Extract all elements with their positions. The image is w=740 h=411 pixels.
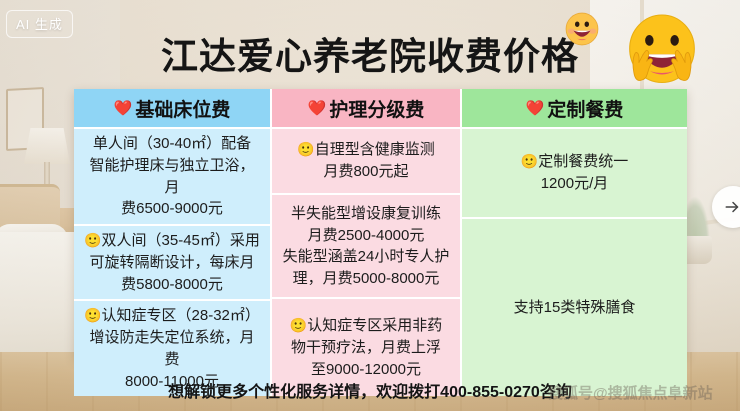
- background-lamp-shade: [24, 128, 70, 164]
- cell-line: 理，月费5000-8000元: [283, 268, 450, 290]
- table-cell: 🙂双人间（35-45㎡）采用 可旋转隔断设计，每床月 费5800-8000元: [74, 224, 270, 299]
- red-heart-icon: ❤️: [526, 99, 545, 117]
- red-heart-icon: ❤️: [308, 99, 327, 117]
- cell-line: 智能护理床与独立卫浴，月: [83, 155, 261, 199]
- cell-line: 月费800元起: [297, 161, 434, 183]
- cell-line: 1200元/月: [521, 173, 628, 195]
- cell-line: 增设防走失定位系统，月费: [83, 327, 261, 371]
- cell-line: 可旋转隔断设计，每床月: [84, 252, 260, 274]
- table-column-basic-bed-fee: ❤️ 基础床位费 单人间（30-40㎡）配备 智能护理床与独立卫浴，月 费650…: [74, 89, 270, 396]
- cell-line: 失能型涵盖24小时专人护: [283, 246, 450, 268]
- cell-line: 单人间（30-40㎡）配备: [83, 133, 261, 155]
- column-header-label: 护理分级费: [329, 95, 424, 122]
- slightly-smiling-face-emoji: 🙂: [297, 141, 314, 157]
- grinning-face-with-victory-hands-emoji: [617, 8, 707, 98]
- table-column-custom-meal-fee: ❤️ 定制餐费 🙂定制餐费统一 1200元/月 支持15类特殊膳食: [460, 89, 687, 396]
- cell-line: 🙂自理型含健康监测: [297, 139, 434, 161]
- cell-line: 🙂双人间（35-45㎡）采用: [84, 230, 260, 252]
- cell-line: 费5800-8000元: [84, 274, 260, 296]
- slightly-smiling-face-emoji: 🙂: [84, 307, 101, 323]
- cell-line: 🙂定制餐费统一: [521, 151, 628, 173]
- table-cell: 🙂定制餐费统一 1200元/月: [462, 129, 687, 217]
- table-cell: 单人间（30-40㎡）配备 智能护理床与独立卫浴，月 费6500-9000元: [74, 129, 270, 224]
- cell-line: 🙂认知症专区（28-32㎡）: [83, 305, 261, 327]
- red-heart-icon: ❤️: [114, 99, 133, 117]
- pricing-table: ❤️ 基础床位费 单人间（30-40㎡）配备 智能护理床与独立卫浴，月 费650…: [74, 89, 687, 358]
- column-header-care-grading-fee: ❤️ 护理分级费: [272, 89, 460, 129]
- table-column-care-grading-fee: ❤️ 护理分级费 🙂自理型含健康监测 月费800元起 半失能型增设康复训练 月费…: [270, 89, 460, 396]
- ai-generated-badge: AI 生成: [6, 10, 73, 38]
- cell-line: 🙂认知症专区采用非药: [290, 315, 442, 337]
- slightly-smiling-face-emoji: 🙂: [84, 232, 101, 248]
- column-header-basic-bed-fee: ❤️ 基础床位费: [74, 89, 270, 129]
- slightly-smiling-face-emoji: 🙂: [521, 153, 538, 169]
- table-cell: 🙂自理型含健康监测 月费800元起: [272, 129, 460, 193]
- slightly-smiling-face-emoji: 🙂: [290, 317, 307, 333]
- column-header-label: 基础床位费: [135, 95, 230, 122]
- source-watermark: 搜狐号@搜狐焦点阜新站: [548, 382, 713, 403]
- cell-line: 月费2500-4000元: [283, 225, 450, 247]
- smiling-face-emoji: [565, 12, 599, 46]
- table-cell: 支持15类特殊膳食: [462, 217, 687, 396]
- table-cell: 半失能型增设康复训练 月费2500-4000元 失能型涵盖24小时专人护 理，月…: [272, 193, 460, 297]
- cell-line: 物干预疗法，月费上浮: [290, 337, 442, 359]
- cell-line: 支持15类特殊膳食: [514, 297, 636, 319]
- arrow-right-icon: [724, 198, 740, 216]
- column-header-label: 定制餐费: [547, 95, 623, 122]
- slide-canvas: AI 生成 江达爱心养老院收费价格 ❤️ 基础床位费: [0, 0, 740, 411]
- cell-line: 半失能型增设康复训练: [283, 203, 450, 225]
- cell-line: 费6500-9000元: [83, 198, 261, 220]
